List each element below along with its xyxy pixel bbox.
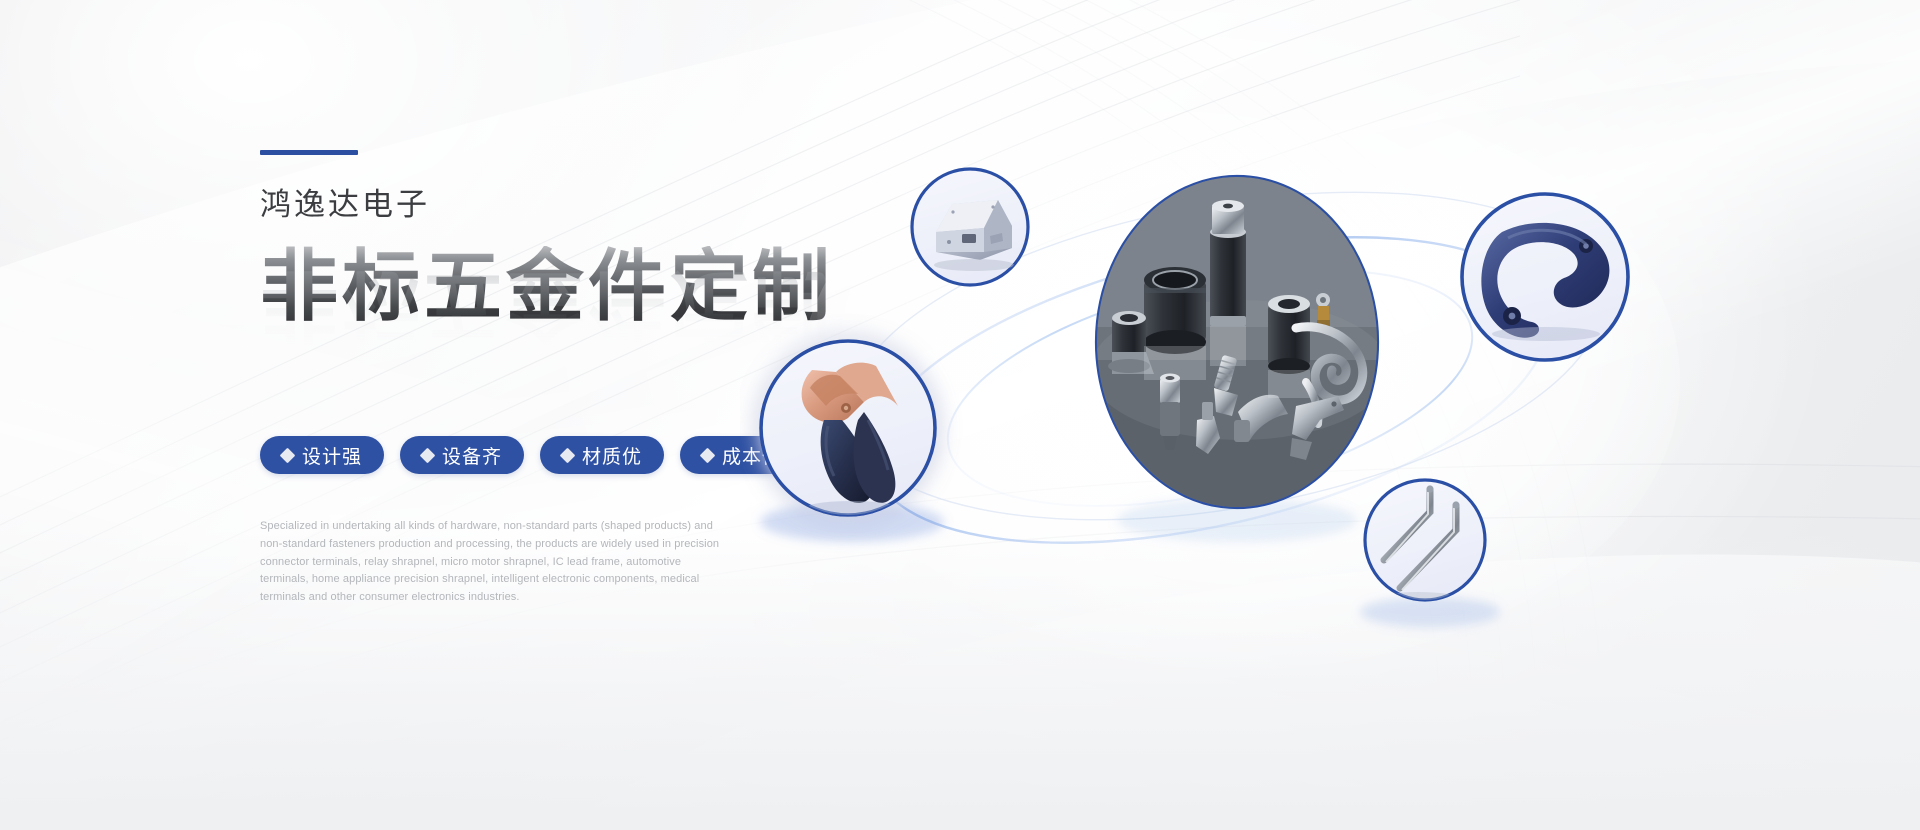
- bubble-sheet-metal-enclosure: [912, 169, 1028, 285]
- diamond-icon: [280, 447, 296, 463]
- feature-badge[interactable]: 设备齐: [400, 436, 524, 474]
- feature-badge-label: 设计强: [302, 442, 362, 469]
- feature-badge-label: 设备齐: [442, 442, 502, 469]
- feature-badge-label: 材质优: [582, 442, 642, 469]
- diamond-icon: [560, 447, 576, 463]
- product-showcase: [740, 120, 1740, 680]
- feature-badge[interactable]: 材质优: [540, 436, 664, 474]
- diamond-icon: [420, 447, 436, 463]
- description-paragraph: Specialized in undertaking all kinds of …: [260, 518, 722, 607]
- bubble-battery-clamp: [761, 341, 935, 515]
- accent-bar: [260, 150, 358, 155]
- diamond-icon: [700, 447, 716, 463]
- bubble-retaining-clip: [1462, 194, 1628, 360]
- feature-badge[interactable]: 设计强: [260, 436, 384, 474]
- part-tall-cylinder: [1210, 200, 1246, 326]
- part-black-socket: [1144, 267, 1206, 354]
- part-ring-socket: [1268, 295, 1310, 374]
- hero-banner: 鸿逸达电子 非标五金件定制 非标五金件定制 设计强 设备齐 材质优 成本低: [0, 0, 1920, 830]
